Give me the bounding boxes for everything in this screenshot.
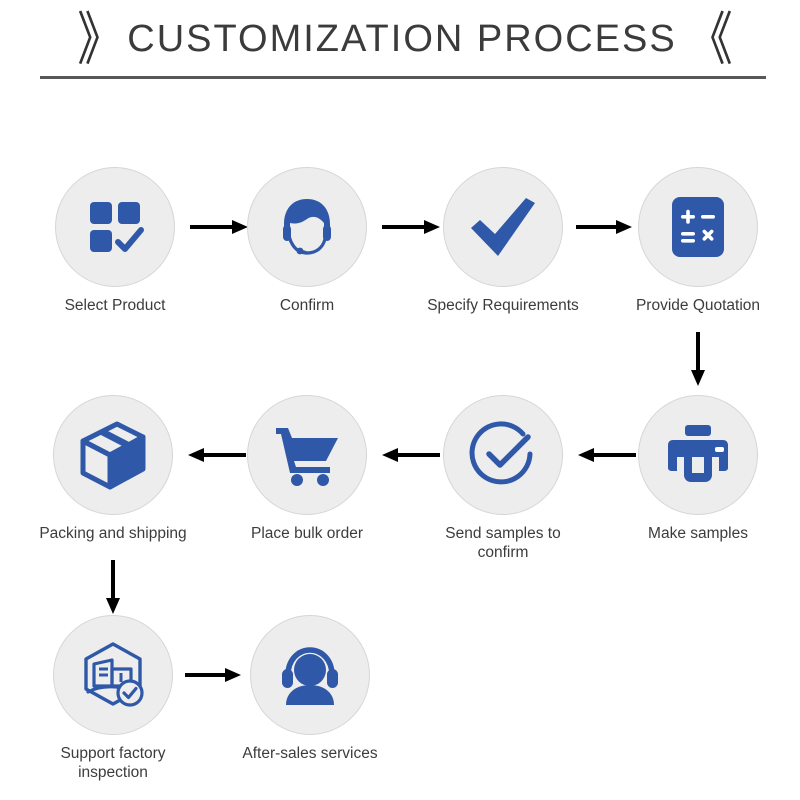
- calculator-icon: [669, 194, 727, 260]
- flow-step-icon-circle: [55, 167, 175, 287]
- flow-step-after-sales-services[interactable]: After-sales services: [225, 615, 395, 763]
- arrow-quotation-to-samples: [690, 332, 706, 388]
- flow-step-icon-circle: [443, 167, 563, 287]
- flow-step-label: After-sales services: [225, 744, 395, 763]
- printer-icon: [663, 423, 733, 487]
- factory-check-icon: [78, 640, 148, 710]
- title-divider: [40, 76, 766, 79]
- grid-check-icon: [84, 196, 146, 258]
- flow-step-make-samples[interactable]: Make samples: [613, 395, 783, 543]
- flow-step-send-samples-to-confirm[interactable]: Send samples to confirm: [418, 395, 588, 562]
- flow-step-label: Confirm: [222, 296, 392, 315]
- circle-check-icon: [468, 420, 538, 490]
- shopping-cart-icon: [272, 423, 342, 487]
- headset-agent-icon: [273, 193, 341, 261]
- chevron-left-decoration: 》: [77, 10, 121, 68]
- flow-step-label: Specify Requirements: [418, 296, 588, 315]
- flow-step-icon-circle: [247, 395, 367, 515]
- chevron-right-decoration: 《: [683, 10, 723, 68]
- flow-step-icon-circle: [53, 615, 173, 735]
- arrow-packing-to-inspection: [105, 560, 121, 616]
- flow-step-label: Place bulk order: [222, 524, 392, 543]
- flow-step-place-bulk-order[interactable]: Place bulk order: [222, 395, 392, 543]
- flow-step-icon-circle: [638, 167, 758, 287]
- flow-step-label: Send samples to confirm: [418, 524, 588, 562]
- page-title: CUSTOMIZATION PROCESS: [127, 18, 676, 61]
- flow-step-icon-circle: [638, 395, 758, 515]
- flow-step-icon-circle: [250, 615, 370, 735]
- package-box-icon: [77, 419, 149, 491]
- flow-step-specify-requirements[interactable]: Specify Requirements: [418, 167, 588, 315]
- flow-step-label: Packing and shipping: [28, 524, 198, 543]
- headset-person-icon: [276, 643, 344, 707]
- flow-step-select-product[interactable]: Select Product: [30, 167, 200, 315]
- flow-step-label: Make samples: [613, 524, 783, 543]
- flow-step-label: Provide Quotation: [613, 296, 783, 315]
- flow-step-support-factory-inspection[interactable]: Support factory inspection: [28, 615, 198, 782]
- flow-step-icon-circle: [443, 395, 563, 515]
- flow-step-icon-circle: [247, 167, 367, 287]
- flow-step-label: Select Product: [30, 296, 200, 315]
- flow-step-confirm[interactable]: Confirm: [222, 167, 392, 315]
- flow-step-packing-and-shipping[interactable]: Packing and shipping: [28, 395, 198, 543]
- checkmark-icon: [468, 194, 538, 260]
- flow-step-icon-circle: [53, 395, 173, 515]
- page-header: 》 CUSTOMIZATION PROCESS 《: [0, 8, 800, 70]
- flow-step-provide-quotation[interactable]: Provide Quotation: [613, 167, 783, 315]
- flow-step-label: Support factory inspection: [28, 744, 198, 782]
